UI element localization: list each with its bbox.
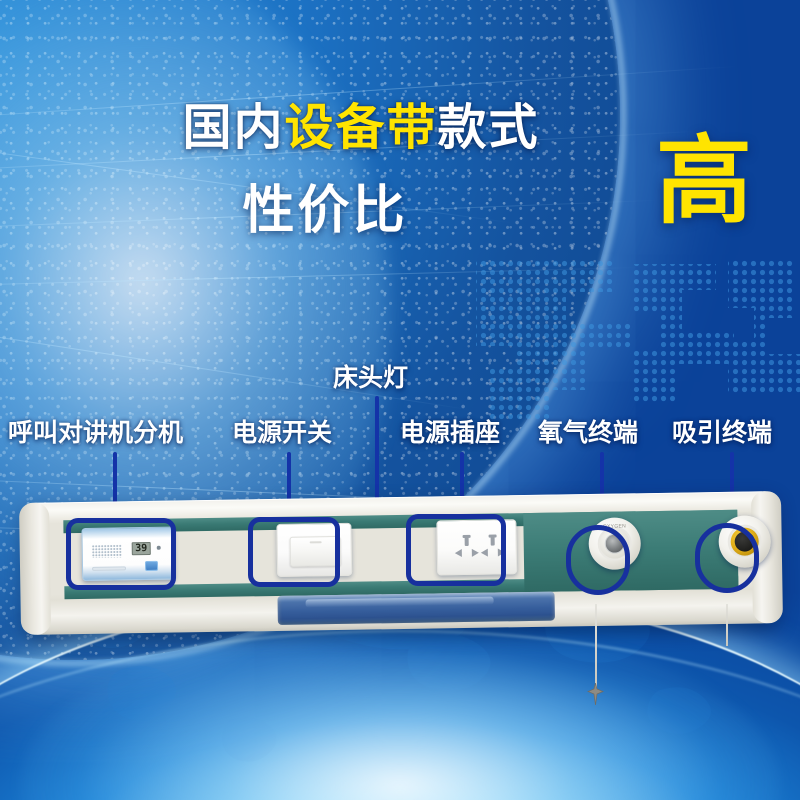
pull-cord-handle-icon[interactable]	[586, 683, 605, 705]
diffuser-sheen	[305, 597, 493, 607]
highlight-box-power-outlet	[406, 514, 506, 586]
highlight-box-oxygen	[566, 525, 630, 595]
panel-end-cap-left	[19, 503, 51, 635]
highlight-box-power-switch	[248, 517, 340, 587]
highlight-box-intercom	[66, 518, 176, 590]
highlight-box-suction	[695, 523, 759, 593]
oxygen-hose-cord	[595, 604, 597, 688]
bed-lamp-diffuser[interactable]	[278, 592, 555, 625]
suction-hose-cord	[726, 604, 728, 646]
product-photo-area: 39 OXYGEN	[0, 0, 800, 800]
